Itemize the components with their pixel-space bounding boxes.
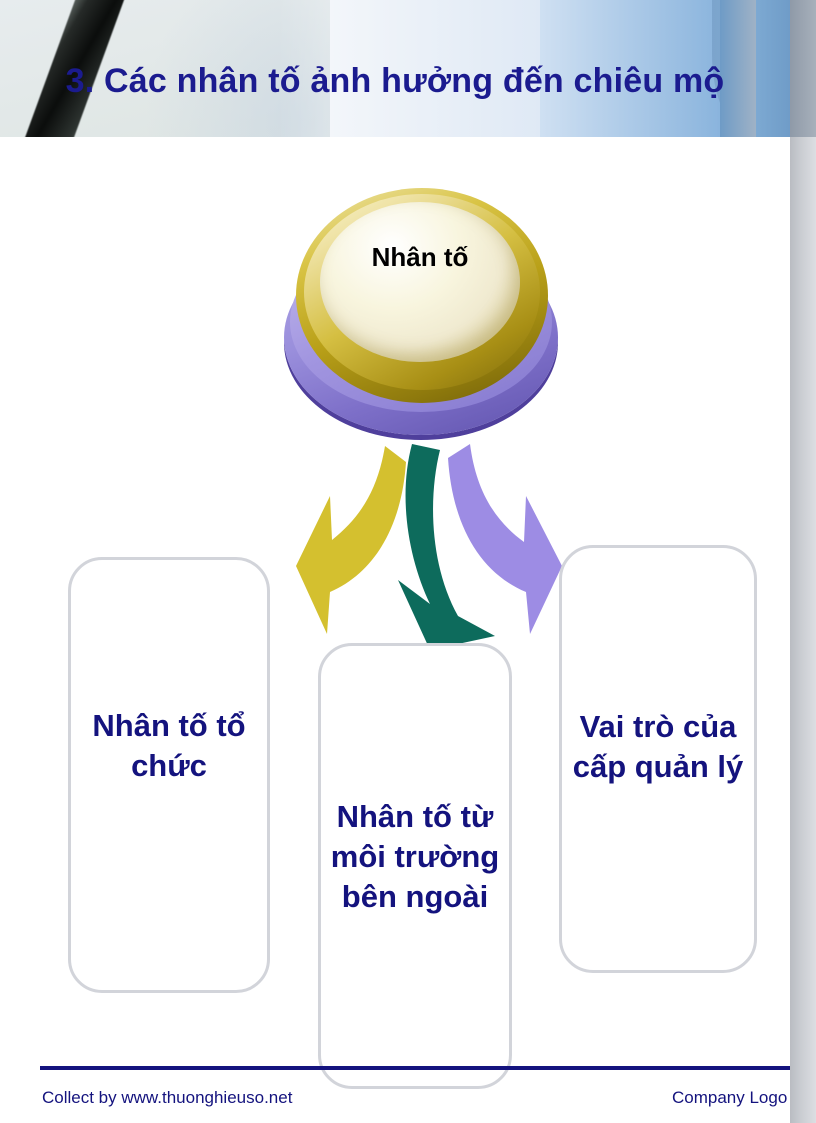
right-margin-strip-header [790, 0, 816, 137]
footer-credit: Collect by www.thuonghieuso.net [42, 1088, 292, 1108]
arrow-left-icon [296, 446, 406, 634]
box-center[interactable]: Nhân tố từ môi trường bên ngoài [318, 643, 512, 1089]
hub-face [320, 202, 520, 362]
box-right-label: Vai trò của cấp quản lý [562, 707, 754, 788]
right-margin-strip [790, 0, 816, 1123]
arrow-group [280, 438, 580, 668]
footer-divider [40, 1066, 790, 1070]
slide: 3. Các nhân tố ảnh hưởng đến chiêu mộ Nh… [0, 0, 816, 1123]
footer-company-logo-text: Company Logo [672, 1088, 787, 1108]
arrow-right-icon [448, 444, 562, 634]
box-left[interactable]: Nhân tố tổ chức [68, 557, 270, 993]
hub-label: Nhân tố [320, 242, 520, 273]
box-center-label: Nhân tố từ môi trường bên ngoài [321, 797, 509, 918]
arrow-group-svg [280, 438, 580, 668]
central-hub-graphic: Nhân tố [276, 180, 566, 450]
page-title: 3. Các nhân tố ảnh hưởng đến chiêu mộ [0, 62, 790, 101]
box-left-label: Nhân tố tổ chức [71, 706, 267, 787]
box-right[interactable]: Vai trò của cấp quản lý [559, 545, 757, 973]
